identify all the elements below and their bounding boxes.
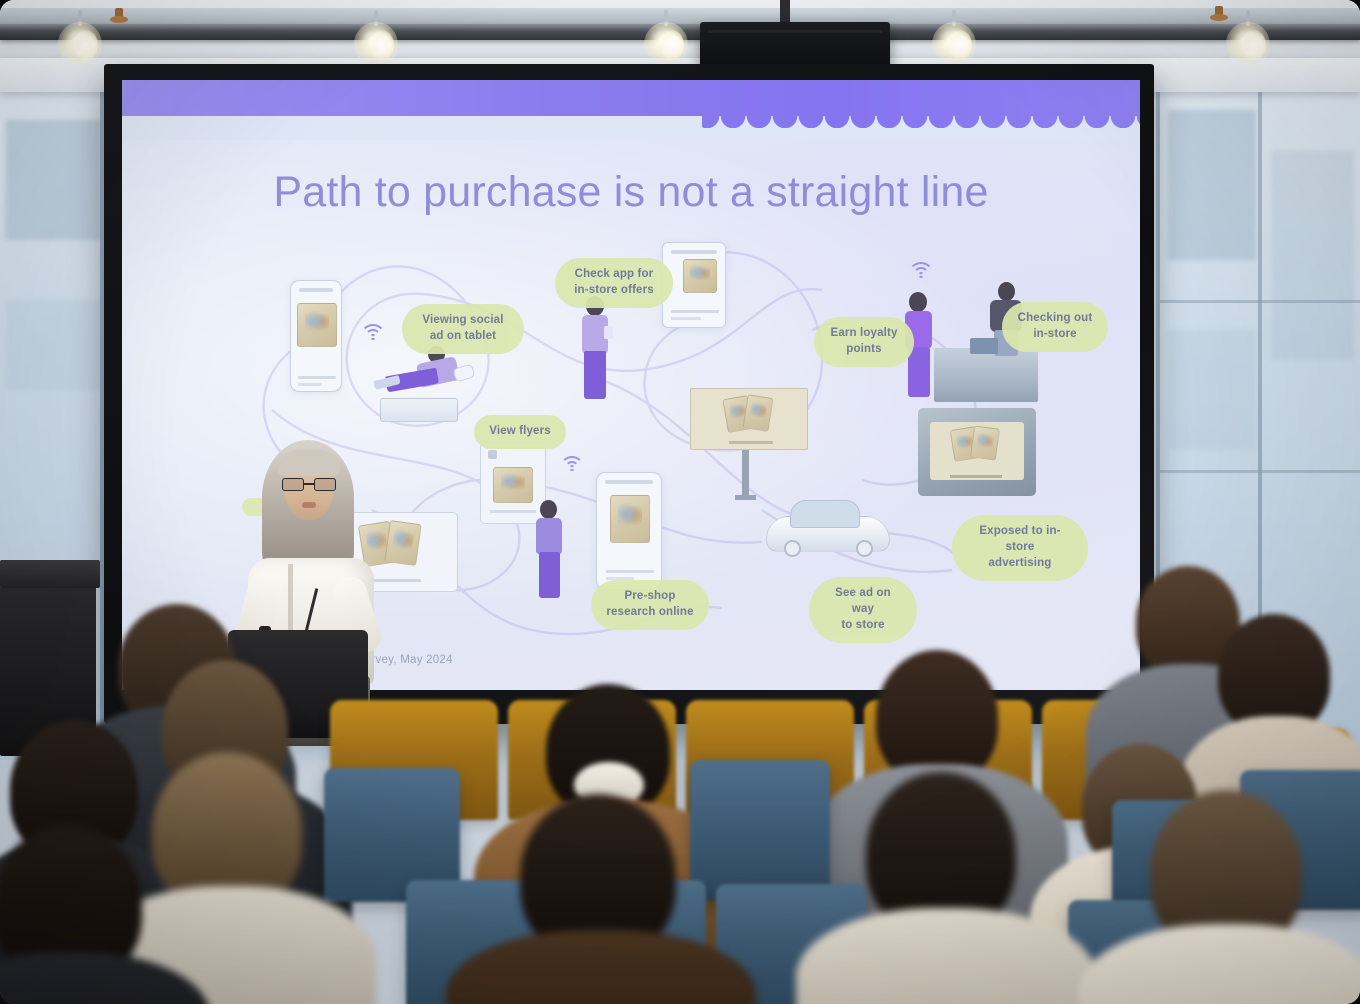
- in-store-digital-display: [918, 408, 1036, 496]
- wifi-signal-icon: [560, 456, 584, 471]
- callout-exposed-in-store-ads: Exposed to in-store advertising: [952, 515, 1088, 581]
- billboard-post: [742, 450, 749, 498]
- sprinkler-head-icon: [1210, 6, 1228, 26]
- callout-viewing-social-ad: Viewing social ad on tablet: [402, 304, 524, 354]
- glasses-icon: [282, 478, 336, 491]
- white-car: [766, 500, 890, 558]
- track-light: [658, 10, 674, 36]
- track-light: [1240, 10, 1256, 36]
- wifi-signal-icon: [360, 324, 386, 340]
- ceiling-track-rail: [0, 8, 1360, 25]
- callout-pre-shop-research: Pre-shop research online: [591, 580, 709, 630]
- callout-checking-out-in-store: Checking out in-store: [1002, 302, 1108, 352]
- sprinkler-head-icon: [110, 8, 128, 28]
- wifi-signal-icon: [908, 262, 934, 278]
- track-light: [946, 10, 962, 36]
- research-phone-large: [596, 472, 662, 590]
- callout-earn-loyalty-points: Earn loyalty points: [814, 317, 914, 367]
- roadside-billboard: [690, 388, 808, 450]
- presentation-scene: Path to purchase is not a straight line: [0, 0, 1360, 1004]
- podium-top: [0, 560, 100, 588]
- billboard-base: [735, 495, 756, 500]
- person-browsing-phone: [530, 500, 570, 610]
- person-with-phone: [574, 296, 618, 412]
- smartphone-social-feed: [290, 280, 342, 392]
- track-light: [368, 10, 384, 36]
- callout-check-app-offers: Check app for in-store offers: [555, 258, 673, 308]
- seat-blue: [690, 760, 830, 900]
- callout-view-flyers: View flyers: [474, 415, 566, 449]
- callout-see-ad-on-way: See ad on way to store: [809, 577, 917, 643]
- grocery-basket: [970, 338, 998, 354]
- track-light: [72, 10, 88, 36]
